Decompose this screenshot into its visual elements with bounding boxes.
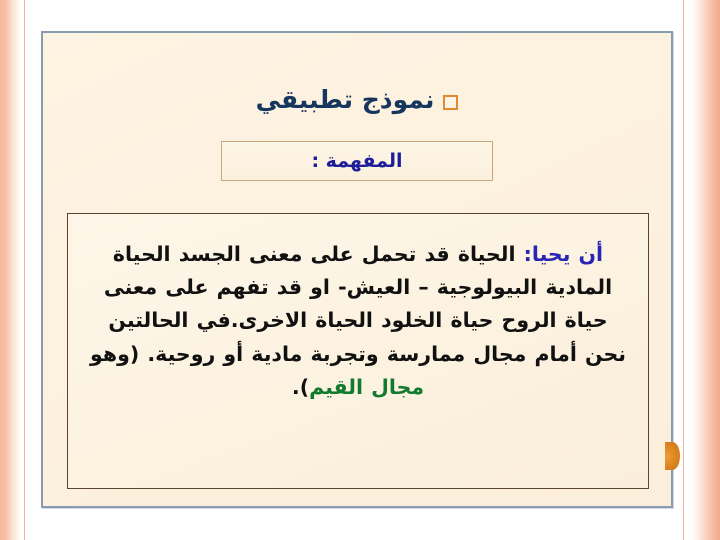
slide-title-row: نموذج تطبيقي xyxy=(43,85,671,114)
subtitle-box: المفهمة : xyxy=(221,141,493,181)
right-edge-strip xyxy=(682,0,720,540)
left-edge-strip xyxy=(0,0,26,540)
slide-panel: نموذج تطبيقي المفهمة : أن يحيا: الحياة ق… xyxy=(41,31,673,508)
body-highlight-keyword: مجال القيم xyxy=(309,375,424,399)
left-edge-hairline xyxy=(24,0,25,540)
page-title: نموذج تطبيقي xyxy=(256,85,435,114)
body-text-part-2: ). xyxy=(292,375,309,399)
body-text-box: أن يحيا: الحياة قد تحمل على معنى الجسد ا… xyxy=(67,213,649,489)
body-paragraph: أن يحيا: الحياة قد تحمل على معنى الجسد ا… xyxy=(90,238,626,404)
right-edge-hairline xyxy=(683,0,684,540)
subtitle-label: المفهمة : xyxy=(311,150,402,172)
square-bullet-icon xyxy=(443,95,458,110)
body-lead-keyword: أن يحيا: xyxy=(524,242,603,266)
orange-accent-disc-icon xyxy=(665,442,680,470)
